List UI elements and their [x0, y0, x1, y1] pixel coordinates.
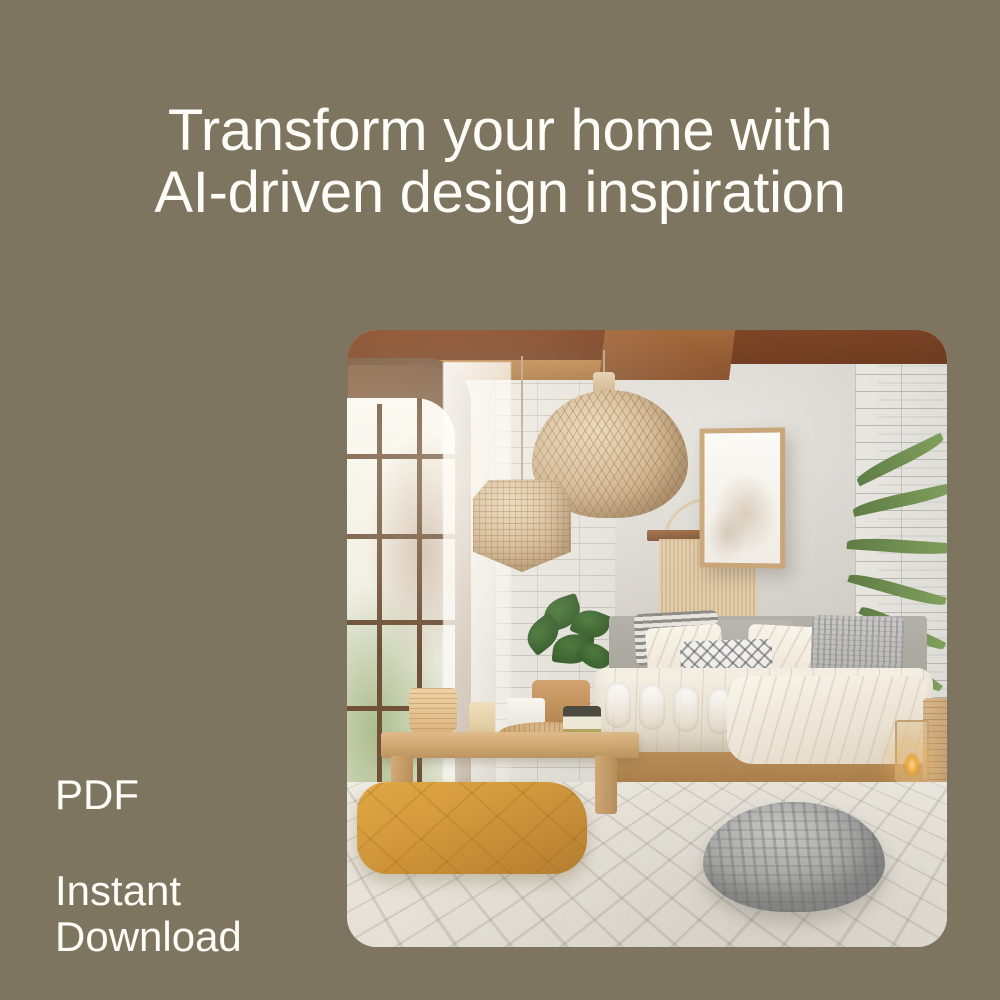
- cushion-tuft: [673, 686, 699, 732]
- pendant-cord: [521, 356, 523, 482]
- window-mullion-horizontal: [347, 534, 455, 539]
- wood-ceiling-beam-angled: [599, 330, 735, 380]
- interior-photo: [347, 330, 947, 947]
- candle-flame-icon: [903, 748, 921, 776]
- table-leg: [595, 756, 617, 814]
- window-mullion-horizontal: [347, 454, 455, 459]
- page-title: Transform your home with AI-driven desig…: [0, 100, 1000, 224]
- wood-coffee-table: [381, 732, 639, 758]
- mustard-floor-cushion: [357, 782, 587, 874]
- art-canvas: [705, 432, 781, 563]
- woven-plant-pot: [409, 688, 457, 734]
- format-label: PDF: [55, 772, 139, 818]
- cushion-tuft: [639, 684, 665, 730]
- delivery-label: Instant Download: [55, 868, 242, 960]
- pillar-candle: [469, 702, 495, 736]
- cushion-tuft: [605, 682, 631, 728]
- framed-botanical-art: [700, 427, 786, 568]
- window-mullion-horizontal: [347, 620, 455, 625]
